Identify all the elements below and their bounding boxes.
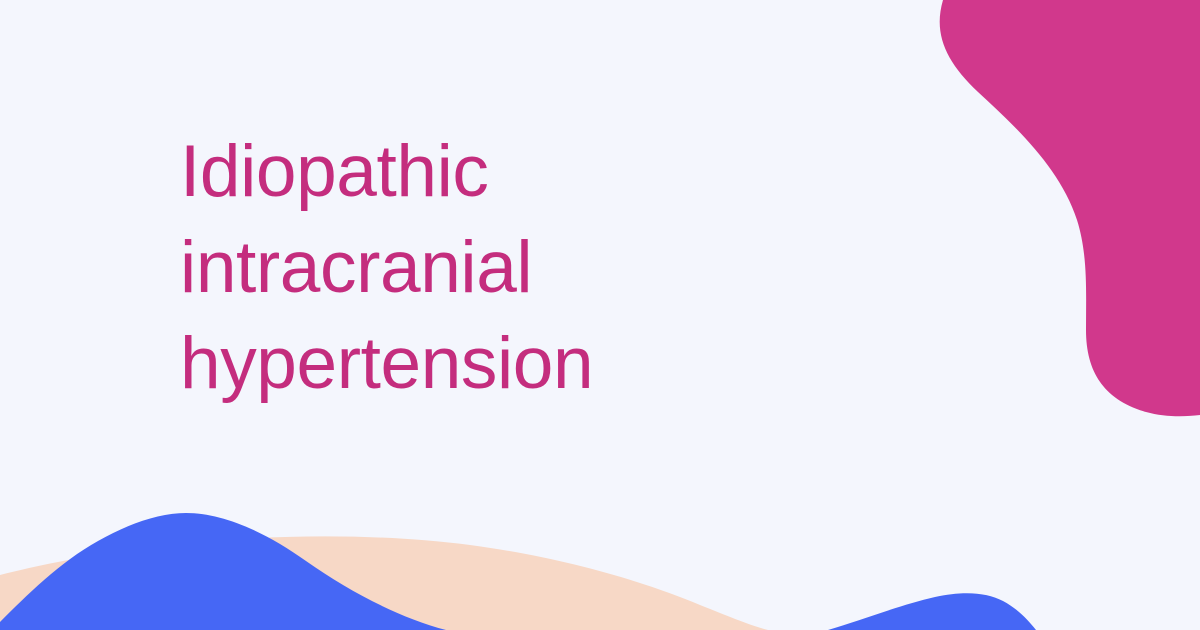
title-block: Idiopathic intracranial hypertension [180,124,800,412]
page-title: Idiopathic intracranial hypertension [180,124,800,412]
social-share-card: Idiopathic intracranial hypertension [0,0,1200,630]
